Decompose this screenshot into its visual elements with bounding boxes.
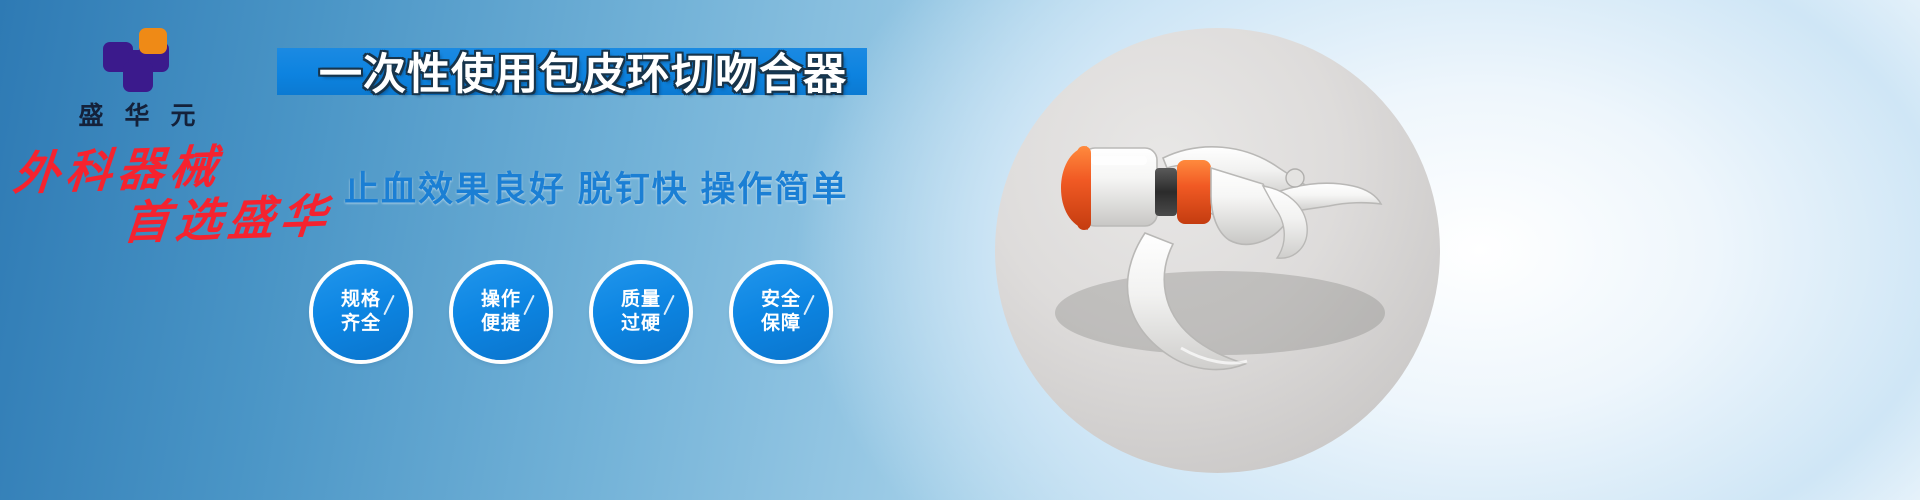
- feature-badge[interactable]: 质量 过硬: [593, 264, 689, 360]
- logo-square-orange: [139, 28, 167, 54]
- feature-badge-line-1: 质量: [621, 288, 661, 312]
- subtitle-text: 止血效果良好 脱钉快 操作简单: [344, 163, 864, 209]
- feature-badge-list: 规格 齐全 操作 便捷 质量 过硬 安全 保障: [313, 264, 829, 360]
- feature-badge-line-2: 过硬: [621, 312, 661, 336]
- headline-title: 一次性使用包皮环切吻合器: [283, 42, 883, 100]
- calligraphy-line-2: 首选盛华: [122, 192, 347, 247]
- calligraphy-slogan: 外科器械 首选盛华: [14, 145, 344, 260]
- feature-badge-line-2: 齐全: [341, 312, 381, 336]
- feature-badge-line-1: 规格: [341, 288, 381, 312]
- circumcision-stapler-photo: [995, 28, 1440, 473]
- brand-name: 盛 华 元: [57, 103, 217, 131]
- feature-badge[interactable]: 规格 齐全: [313, 264, 409, 360]
- feature-badge[interactable]: 操作 便捷: [453, 264, 549, 360]
- feature-badge-line-1: 操作: [481, 288, 521, 312]
- product-photo: [995, 28, 1440, 473]
- shenghuayuan-logo-icon: [103, 28, 171, 94]
- brand-logo-block: 盛 华 元: [57, 28, 217, 131]
- feature-badge-line-2: 保障: [761, 312, 801, 336]
- feature-badge-line-1: 安全: [761, 288, 801, 312]
- logo-square-bottom: [123, 62, 153, 92]
- feature-badge[interactable]: 安全 保障: [733, 264, 829, 360]
- calligraphy-line-1: 外科器械: [11, 139, 346, 197]
- feature-badge-line-2: 便捷: [481, 312, 521, 336]
